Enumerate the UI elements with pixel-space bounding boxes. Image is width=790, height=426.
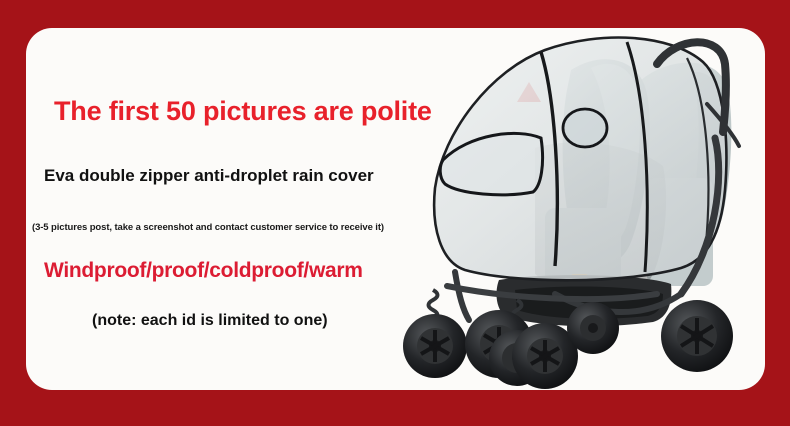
frame-front-leg bbox=[455, 272, 469, 320]
promo-fineprint: (3-5 pictures post, take a screenshot an… bbox=[32, 222, 384, 233]
cover-side-vent bbox=[563, 109, 607, 147]
product-photo-stroller bbox=[395, 28, 765, 390]
page-title: The first 50 pictures are polite bbox=[54, 96, 432, 127]
wheel-rear-inner bbox=[567, 302, 619, 354]
promo-copy-block: The first 50 pictures are polite Eva dou… bbox=[26, 28, 426, 390]
wheel-rear-right bbox=[661, 300, 733, 372]
promo-limit-note: (note: each id is limited to one) bbox=[92, 312, 328, 330]
product-features: Windproof/proof/coldproof/warm bbox=[44, 259, 363, 283]
promo-card: The first 50 pictures are polite Eva dou… bbox=[26, 28, 765, 390]
promo-banner: The first 50 pictures are polite Eva dou… bbox=[0, 0, 790, 426]
product-subtitle: Eva double zipper anti-droplet rain cove… bbox=[44, 166, 374, 186]
